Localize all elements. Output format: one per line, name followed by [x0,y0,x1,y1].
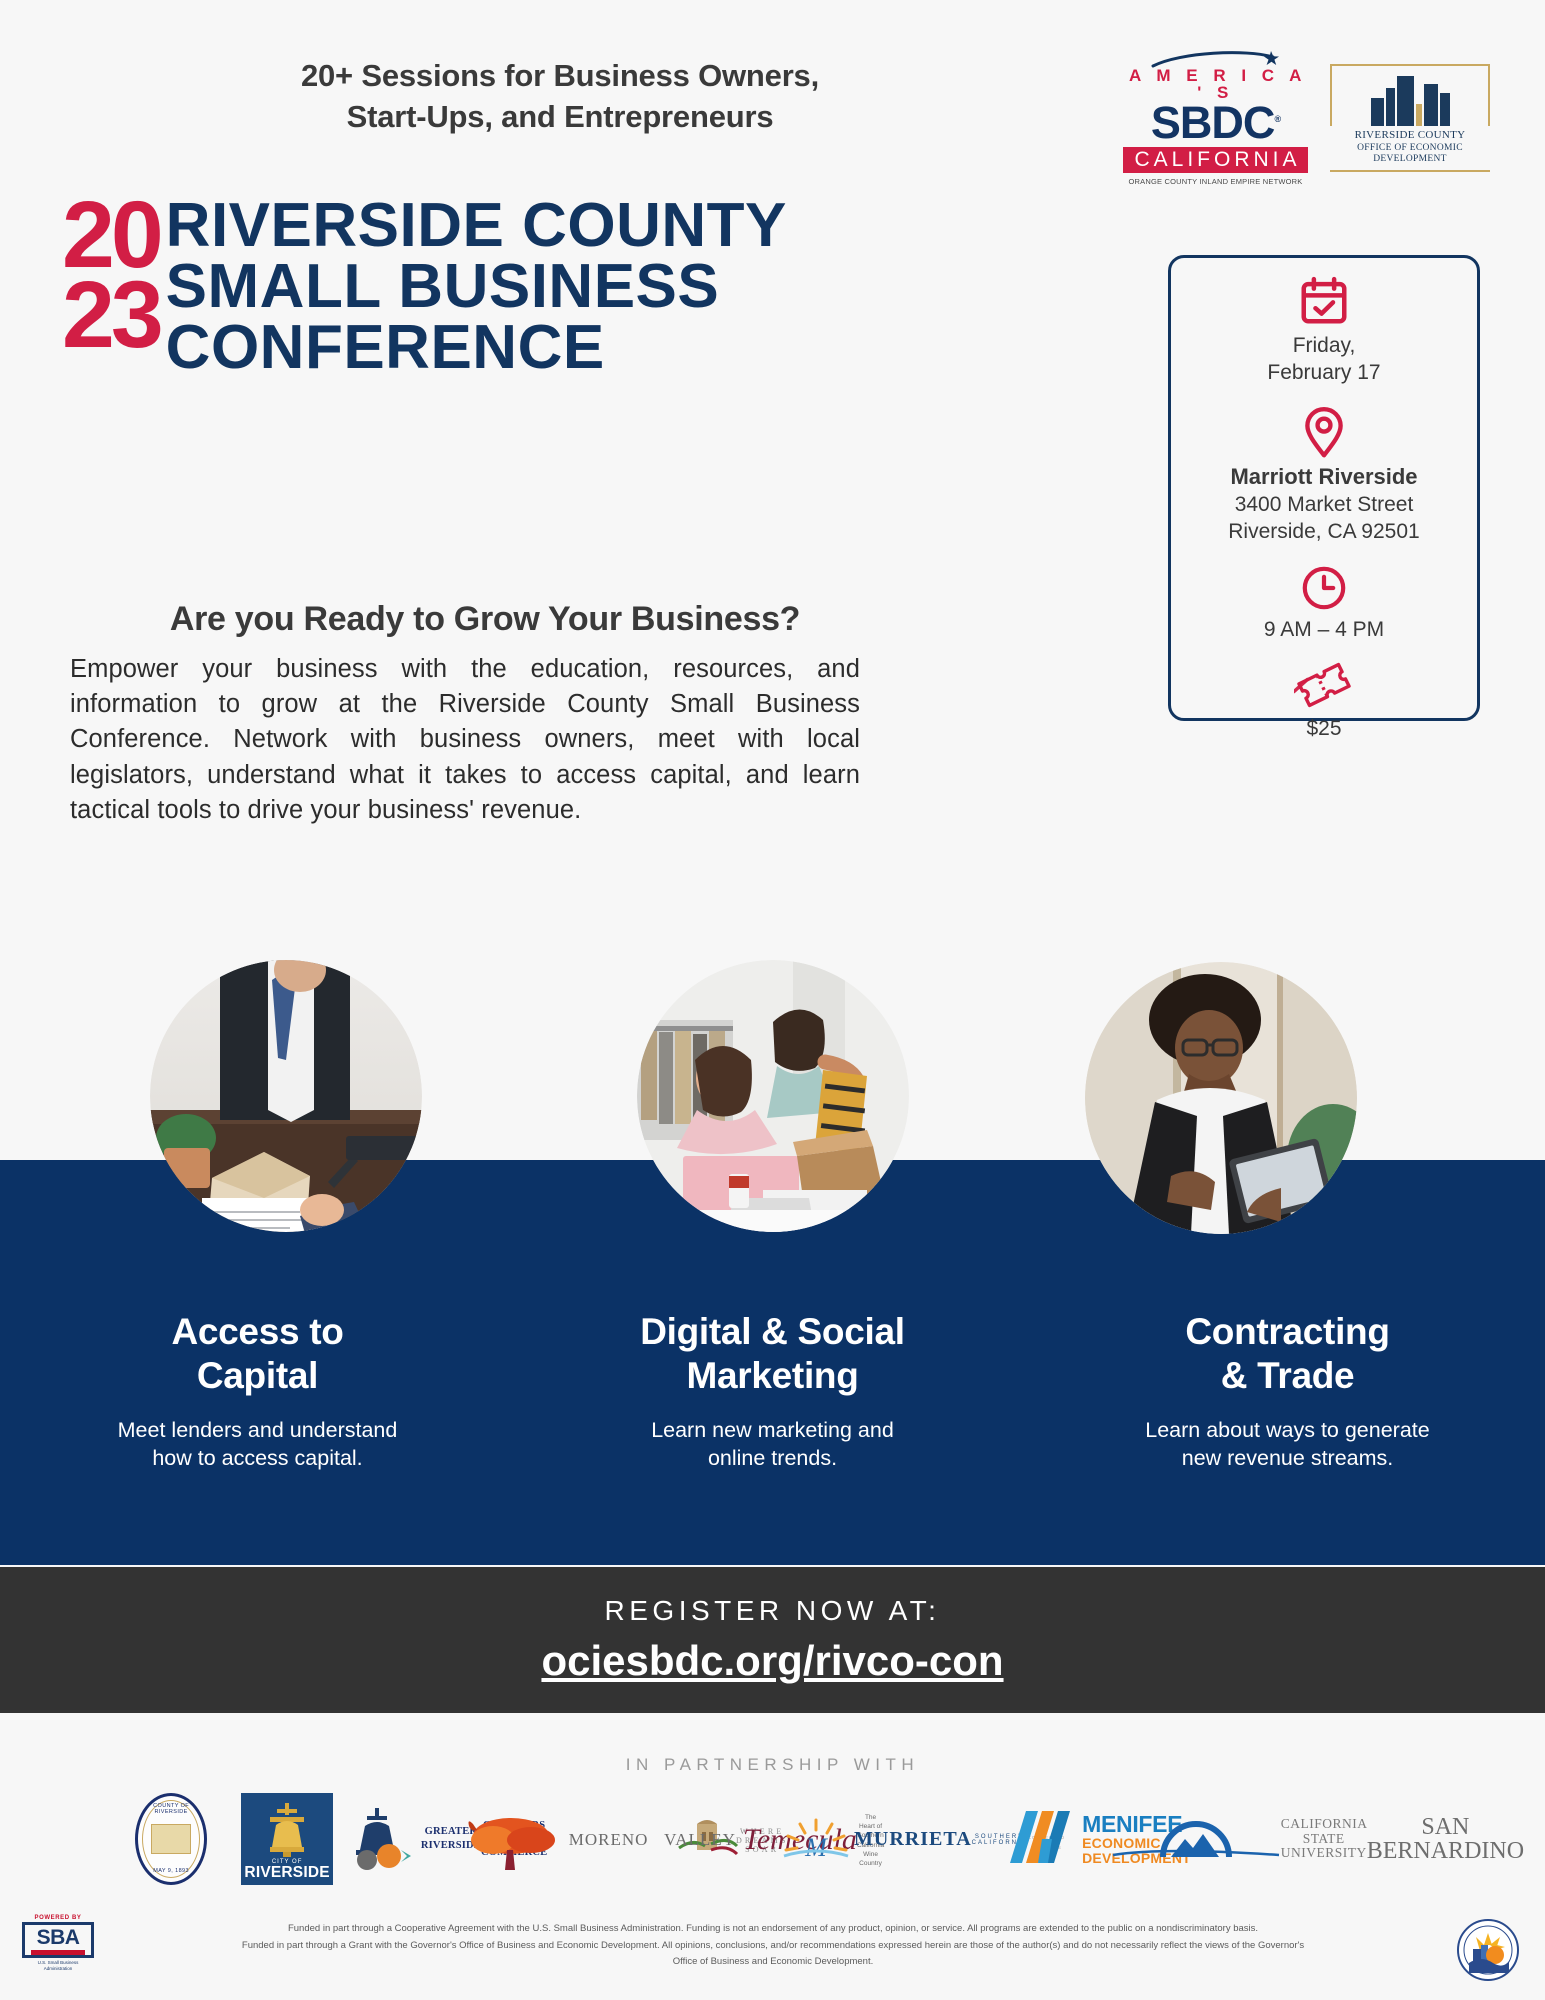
event-date-item: Friday, February 17 [1171,274,1477,387]
feature-desc-line1: Learn about ways to generate [1030,1417,1545,1445]
county-of-riverside-seal: COUNTY OF RIVERSIDE MAY 9, 1893 [135,1793,207,1885]
oed-line1: RIVERSIDE COUNTY [1330,129,1490,143]
feature-photo-group [0,960,1545,1300]
clock-icon [1171,564,1477,612]
header-tagline-line1: 20+ Sessions for Business Owners, [180,55,940,96]
register-bar: REGISTER NOW AT: ociesbdc.org/rivco-con [0,1567,1545,1713]
feature-title: Contracting & Trade [1030,1310,1545,1397]
event-time-text: 9 AM – 4 PM [1171,616,1477,643]
disclaimer-line3: Office of Business and Economic Developm… [118,1954,1428,1971]
event-date-line2: February 17 [1171,359,1477,386]
header-tagline-line2: Start-Ups, and Entrepreneurs [180,96,940,137]
feature-title-line1: Contracting [1030,1310,1545,1354]
feature-description: Learn about ways to generate new revenue… [1030,1417,1545,1473]
riverside-label: RIVERSIDE [244,1865,329,1881]
oed-line2: OFFICE OF ECONOMIC DEVELOPMENT [1330,143,1490,167]
event-details-box: Friday, February 17 Marriott Riverside 3… [1168,255,1480,721]
feature-access-to-capital: Access to Capital Meet lenders and under… [0,1310,515,1473]
feature-description: Meet lenders and understand how to acces… [0,1417,515,1473]
sba-powered-by-logo: POWERED BY SBA U.S. Small Business Admin… [22,1915,94,1972]
riverside-county-oed-logo: RIVERSIDE COUNTY OFFICE OF ECONOMIC DEVE… [1330,64,1490,173]
chamber-bell-orange-icon [337,1806,421,1872]
sba-powered-label: POWERED BY [22,1915,94,1921]
lender-signing-photo [150,960,422,1232]
event-date-text: Friday, February 17 [1171,332,1477,387]
partners-section: IN PARTNERSHIP WITH COUNTY OF RIVERSIDE … [0,1713,1545,1903]
seal-top-text: COUNTY OF RIVERSIDE [138,1803,204,1815]
calendar-check-icon [1171,274,1477,328]
sbdc-network-text: ORANGE COUNTY INLAND EMPIRE NETWORK [1123,177,1308,186]
sbdc-acronym: SBDC® [1123,102,1308,145]
feature-description: Learn new marketing and online trends. [515,1417,1030,1473]
woman-tablet-photo [1085,962,1357,1234]
mission-bell-icon [241,1801,333,1859]
sba-acronym: SBA [25,1928,91,1948]
venue-name: Marriott Riverside [1171,463,1477,492]
sba-sublabel: U.S. Small Business Administration [22,1960,94,1972]
feature-title-line1: Digital & Social [515,1310,1030,1354]
event-venue-item: Marriott Riverside 3400 Market Street Ri… [1171,405,1477,546]
moval-tree-icon [449,1814,569,1870]
feature-contracting-trade: Contracting & Trade Learn about ways to … [1030,1310,1545,1473]
boutique-owners-photo [637,960,909,1232]
feature-desc-line1: Meet lenders and understand [0,1417,515,1445]
venue-street: 3400 Market Street [1171,491,1477,518]
feature-digital-social-marketing: Digital & Social Marketing Learn new mar… [515,1310,1030,1473]
map-pin-icon [1171,405,1477,459]
feature-title-line2: Marketing [515,1354,1030,1398]
csusb-mountain-icon [1111,1819,1281,1859]
murrieta-sunburst-icon: M [778,1816,854,1862]
csusb-line2: SAN BERNARDINO [1367,1815,1524,1863]
city-of-riverside-logo: CITY OF RIVERSIDE [241,1793,333,1885]
intro-body: Empower your business with the education… [70,652,860,828]
year-badge: 20 23 [62,196,160,378]
title-line1: RIVERSIDE COUNTY [166,196,787,257]
sbdc-california-logo: A M E R I C A ' S SBDC® CALIFORNIA ORANG… [1123,50,1308,186]
moval-name: MORENO VALLEY [569,1831,736,1848]
event-time-item: 9 AM – 4 PM [1171,564,1477,643]
menifee-m-icon [1008,1809,1074,1870]
header-tagline: 20+ Sessions for Business Owners, Start-… [180,55,940,137]
title-line2: SMALL BUSINESS [166,257,787,318]
feature-title: Access to Capital [0,1310,515,1397]
feature-desc-line1: Learn new marketing and [515,1417,1030,1445]
funding-disclaimer: Funded in part through a Cooperative Agr… [118,1921,1428,1971]
oed-gold-rule [1330,170,1490,172]
csusb-line1: CALIFORNIA STATE UNIVERSITY [1281,1817,1367,1862]
sbdc-americas-text: A M E R I C A ' S [1123,67,1308,101]
feature-list: Access to Capital Meet lenders and under… [0,1310,1545,1473]
feature-title: Digital & Social Marketing [515,1310,1030,1397]
murrieta-name: MURRIETA [854,1829,972,1849]
intro-subhead: Are you Ready to Grow Your Business? [70,600,900,639]
conference-title: RIVERSIDE COUNTY SMALL BUSINESS CONFEREN… [166,196,787,378]
disclaimer-line1: Funded in part through a Cooperative Agr… [118,1921,1428,1938]
year-bottom: 23 [62,276,160,356]
oed-name-text: RIVERSIDE COUNTY OFFICE OF ECONOMIC DEVE… [1330,129,1490,167]
venue-city: Riverside, CA 92501 [1171,518,1477,545]
csu-san-bernardino-logo: CALIFORNIA STATE UNIVERSITY SAN BERNARDI… [1225,1815,1410,1863]
disclaimer-line2: Funded in part through a Grant with the … [118,1938,1428,1955]
page-header: 20+ Sessions for Business Owners, Start-… [0,0,1545,185]
page-footer: POWERED BY SBA U.S. Small Business Admin… [0,1903,1545,2000]
partners-label: IN PARTNERSHIP WITH [0,1713,1545,1775]
sbdc-registered-mark: ® [1274,114,1280,124]
oed-building-icon [1330,64,1490,126]
page-title: 20 23 RIVERSIDE COUNTY SMALL BUSINESS CO… [62,196,787,378]
partner-logo-row: COUNTY OF RIVERSIDE MAY 9, 1893 [0,1793,1545,1885]
svg-text:M: M [804,1833,828,1862]
sbdc-state-banner: CALIFORNIA [1123,147,1308,173]
feature-desc-line2: how to access capital. [0,1445,515,1473]
moreno-valley-logo: MORENO VALLEY WHERE DREAMS SOAR [551,1814,686,1864]
feature-title-line2: & Trade [1030,1354,1545,1398]
california-gobiz-seal [1457,1919,1519,1986]
feature-title-line2: Capital [0,1354,515,1398]
title-line3: CONFERENCE [166,318,787,379]
feature-title-line1: Access to [0,1310,515,1354]
event-price-text: $25 [1171,715,1477,742]
event-venue-text: Marriott Riverside 3400 Market Street Ri… [1171,463,1477,546]
header-logo-group: A M E R I C A ' S SBDC® CALIFORNIA ORANG… [1123,50,1490,186]
feature-desc-line2: online trends. [515,1445,1030,1473]
register-url-link[interactable]: ociesbdc.org/rivco-con [541,1637,1003,1685]
seal-bottom-text: MAY 9, 1893 [138,1868,204,1874]
event-date-line1: Friday, [1171,332,1477,359]
sbdc-swoosh-star-icon [1123,50,1308,68]
tickets-icon [1171,659,1477,711]
event-price-item: $25 [1171,659,1477,742]
register-label: REGISTER NOW AT: [0,1567,1545,1627]
murrieta-logo: M MURRIETA SOUTHERN CALIFORNIA CONNECTED… [869,1816,974,1862]
feature-desc-line2: new revenue streams. [1030,1445,1545,1473]
